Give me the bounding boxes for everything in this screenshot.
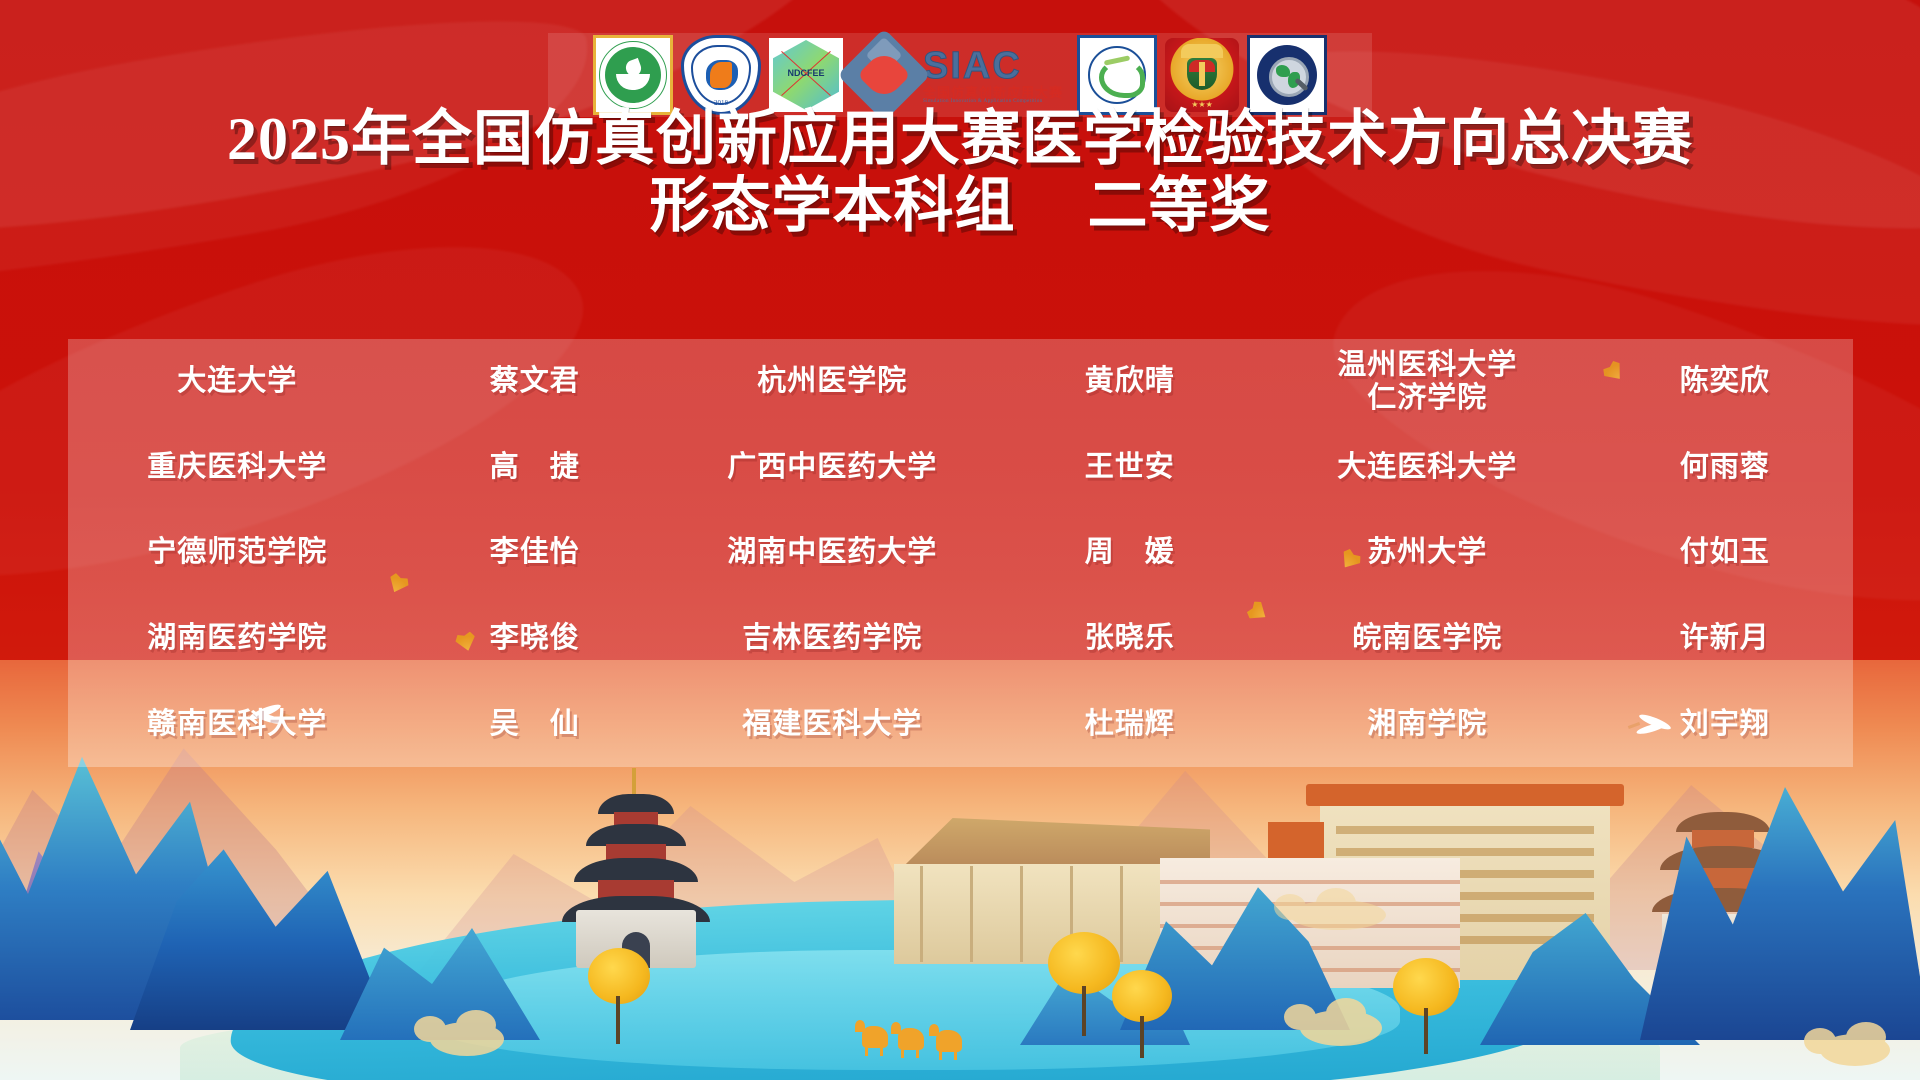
table-cell-school: 湘南学院 bbox=[1258, 708, 1597, 741]
table-cell-school: 湖南医药学院 bbox=[68, 622, 407, 655]
green-hand-leaf-logo bbox=[593, 35, 673, 115]
siac-chinese-label: 全国仿真创新应用大赛 bbox=[923, 86, 1063, 99]
table-cell-school: 湖南中医药大学 bbox=[663, 536, 1002, 569]
table-cell-school: 赣南医科大学 bbox=[68, 708, 407, 741]
group-label: 形态学本科组 bbox=[650, 173, 1016, 239]
siac-wordmark: SIAC bbox=[923, 47, 1022, 85]
poster-title: 2025年全国仿真创新应用大赛医学检验技术方向总决赛 形态学本科组 二等奖 bbox=[0, 108, 1920, 242]
title-line-2: 形态学本科组 二等奖 bbox=[0, 171, 1920, 242]
siac-diamond-logo: SIAC 全国仿真创新应用大赛 Simulation Innovation & … bbox=[851, 39, 1069, 111]
table-cell-school: 温州医科大学 仁济学院 bbox=[1258, 349, 1597, 415]
table-cell-school: 皖南医学院 bbox=[1258, 622, 1597, 655]
table-cell-school: 大连医科大学 bbox=[1258, 451, 1597, 484]
ndcfee-label: NDCFEE bbox=[769, 68, 843, 78]
table-cell-student: 周 媛 bbox=[1002, 536, 1258, 569]
winners-grid: 大连大学 蔡文君 杭州医学院 黄欣晴 温州医科大学 仁济学院 陈奕欣 重庆医科大… bbox=[68, 339, 1853, 767]
table-cell-school: 大连大学 bbox=[68, 365, 407, 398]
globe-magnifier-logo bbox=[1247, 35, 1327, 115]
award-label: 二等奖 bbox=[1088, 173, 1271, 239]
table-cell-school: 苏州大学 bbox=[1258, 536, 1597, 569]
table-cell-school: 宁德师范学院 bbox=[68, 536, 407, 569]
siac-english-label: Simulation Innovation & Application Comp… bbox=[923, 99, 1043, 104]
table-cell-school: 杭州医学院 bbox=[663, 365, 1002, 398]
poster-canvas: 2018 NDCFEE SIAC 全国仿真创新应用大赛 Simulation I… bbox=[0, 0, 1920, 1080]
camel-figure bbox=[898, 1028, 924, 1050]
ndcfee-hexagon-logo: NDCFEE bbox=[769, 38, 843, 112]
gold-red-crest-logo: ★★★ bbox=[1165, 38, 1239, 112]
auspicious-cloud bbox=[1290, 900, 1386, 930]
table-cell-student: 黄欣晴 bbox=[1002, 365, 1258, 398]
table-cell-student: 吴 仙 bbox=[407, 708, 663, 741]
table-cell-student: 高 捷 bbox=[407, 451, 663, 484]
table-cell-student: 张晓乐 bbox=[1002, 622, 1258, 655]
camel-figure bbox=[862, 1026, 888, 1048]
auspicious-cloud bbox=[430, 1022, 504, 1056]
table-cell-student: 何雨蓉 bbox=[1597, 451, 1853, 484]
table-cell-school: 广西中医药大学 bbox=[663, 451, 1002, 484]
table-cell-student: 李佳怡 bbox=[407, 536, 663, 569]
winners-table-panel: 大连大学 蔡文君 杭州医学院 黄欣晴 温州医科大学 仁济学院 陈奕欣 重庆医科大… bbox=[68, 339, 1853, 767]
table-cell-school: 福建医科大学 bbox=[663, 708, 1002, 741]
sponsor-logo-band: 2018 NDCFEE SIAC 全国仿真创新应用大赛 Simulation I… bbox=[548, 33, 1372, 117]
pagoda-tower bbox=[546, 768, 726, 968]
table-cell-student: 李晓俊 bbox=[407, 622, 663, 655]
table-cell-student: 付如玉 bbox=[1597, 536, 1853, 569]
ginkgo-tree bbox=[1108, 970, 1178, 1058]
table-cell-student: 杜瑞辉 bbox=[1002, 708, 1258, 741]
auspicious-cloud bbox=[1300, 1010, 1382, 1046]
table-cell-student: 陈奕欣 bbox=[1597, 365, 1853, 398]
table-cell-student: 刘宇翔 bbox=[1597, 708, 1853, 741]
table-cell-student: 蔡文君 bbox=[407, 365, 663, 398]
auspicious-cloud bbox=[1820, 1034, 1890, 1066]
ginkgo-tree bbox=[582, 948, 656, 1044]
table-cell-school: 重庆医科大学 bbox=[68, 451, 407, 484]
table-cell-student: 许新月 bbox=[1597, 622, 1853, 655]
blue-shield-microscope-logo: 2018 bbox=[681, 35, 761, 115]
table-cell-student: 王世安 bbox=[1002, 451, 1258, 484]
title-line-1: 2025年全国仿真创新应用大赛医学检验技术方向总决赛 bbox=[0, 108, 1920, 171]
blue-caduceus-logo bbox=[1077, 35, 1157, 115]
ginkgo-tree bbox=[1388, 958, 1466, 1054]
camel-figure bbox=[936, 1030, 962, 1052]
table-cell-school: 吉林医药学院 bbox=[663, 622, 1002, 655]
